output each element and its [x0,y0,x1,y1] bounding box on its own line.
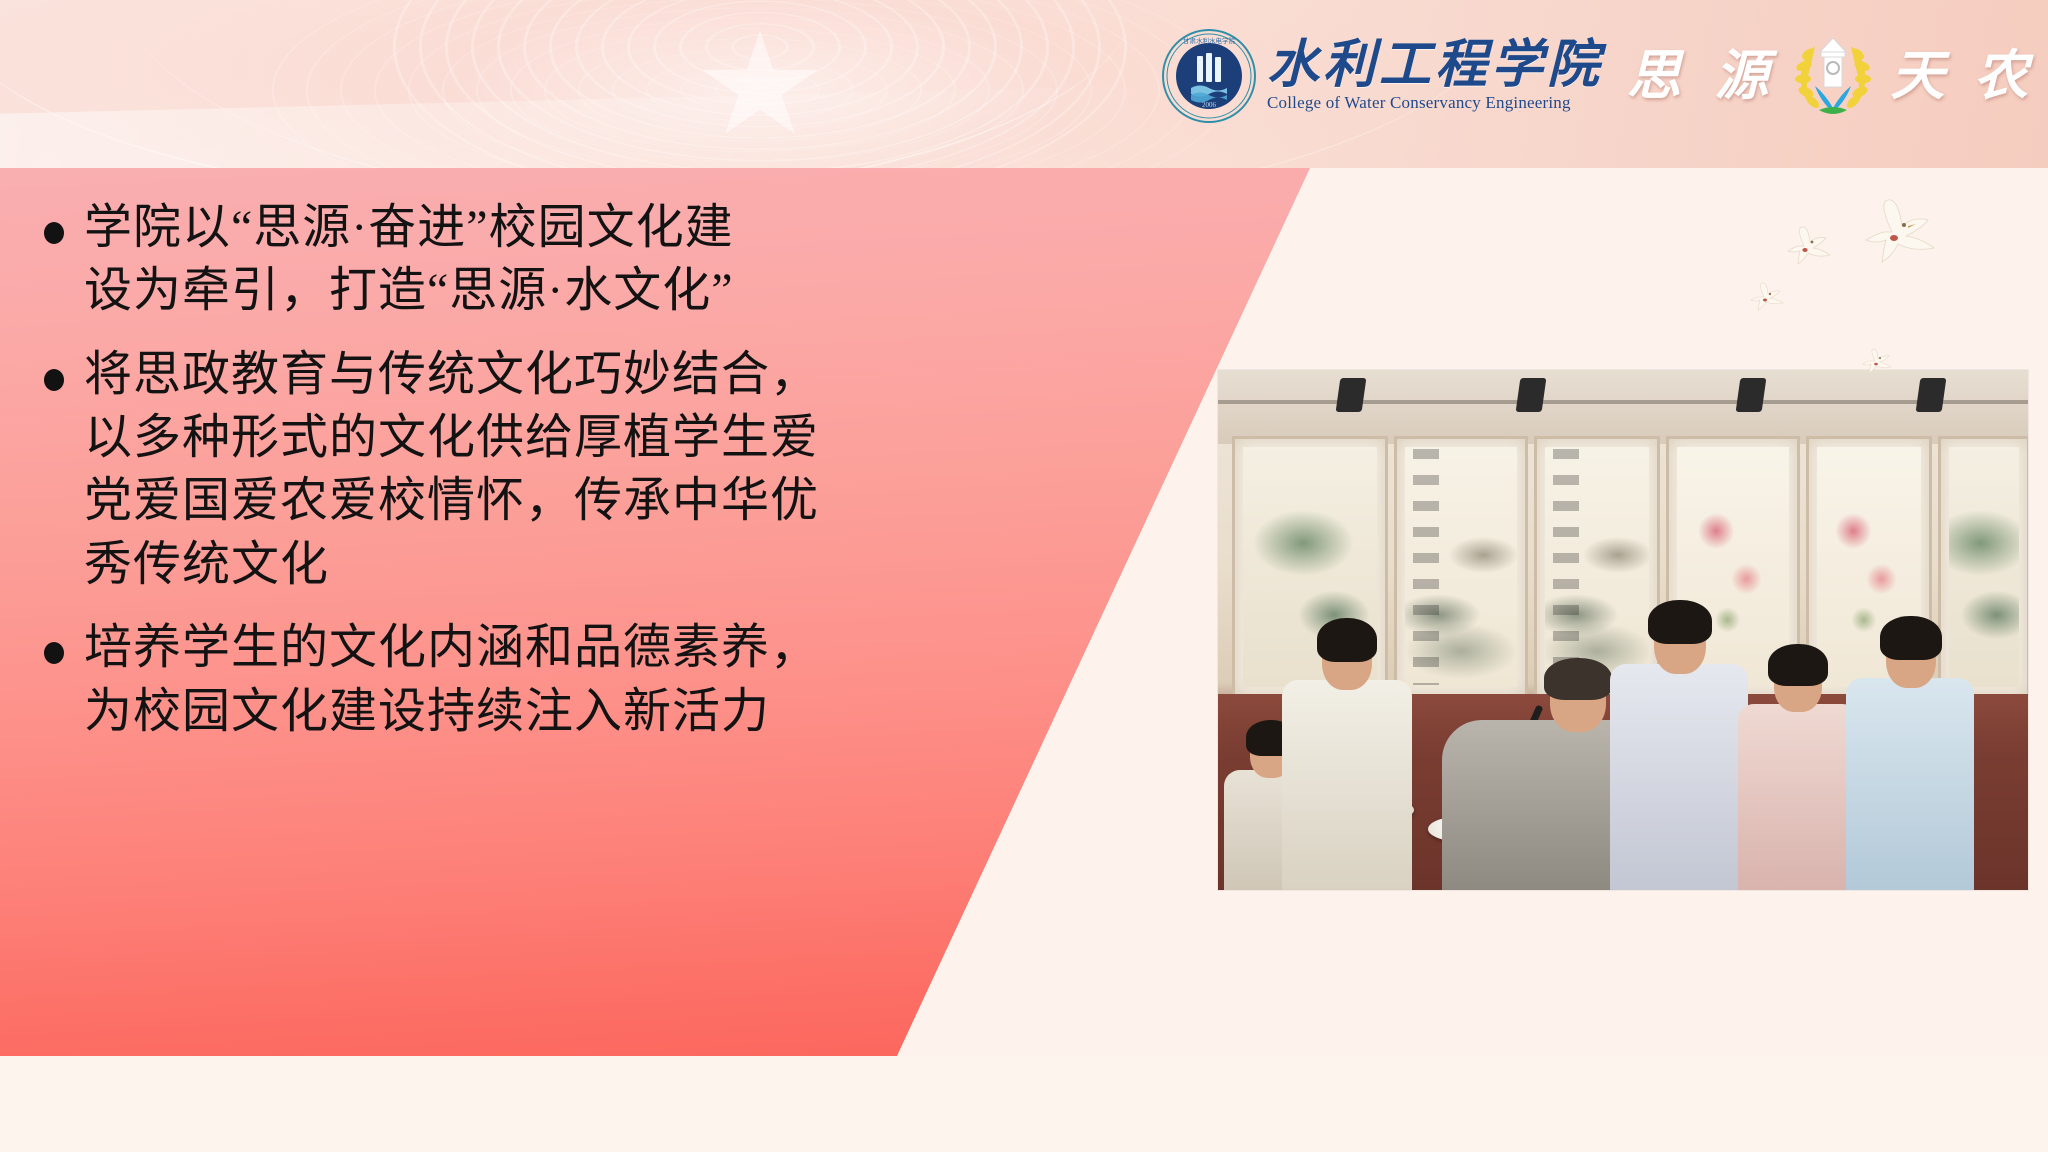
svg-text:2006: 2006 [1202,101,1217,109]
svg-text:甘肃水利水电学院: 甘肃水利水电学院 [1183,36,1236,45]
dove-2-icon [1778,226,1836,270]
header-banner: 2006 甘肃水利水电学院 水利工程学院 College of Water Co… [0,0,2048,168]
university-crest-icon: 2006 甘肃水利水电学院 [1161,28,1257,124]
student-figure [1846,590,1974,890]
bullet-text-3: 培养学生的文化内涵和品德素养， 为校园文化建设持续注入新活力 [84,616,819,743]
dove-3-icon [1744,282,1788,314]
bullet-text-1: 学院以“思源·奋进”校园文化建 设为牵引，打造“思源·水文化” [84,196,734,323]
ceiling-spotlight-icon [1736,378,1767,412]
calligraphy-class-photo [1218,370,2028,890]
laurel-wreath-emblem-icon [1785,28,1881,124]
student-figure [1282,590,1412,890]
bullet-marker-icon [44,642,64,664]
logo-lockup: 2006 甘肃水利水电学院 水利工程学院 College of Water Co… [1161,16,2036,136]
bullet-line: 为校园文化建设持续注入新活力 [84,680,819,743]
bullet-line: 培养学生的文化内涵和品德素养， [84,616,819,679]
slogan-lockup: 思 源 [1627,28,2036,124]
bullet-marker-icon [44,222,64,244]
bullet-text-2: 将思政教育与传统文化巧妙结合， 以多种形式的文化供给厚植学生爱 党爱国爱农爱校情… [84,343,819,596]
university-name-block: 水利工程学院 College of Water Conservancy Engi… [1267,40,1603,113]
bullet-list: 学院以“思源·奋进”校园文化建 设为牵引，打造“思源·水文化” 将思政教育与传统… [44,196,944,763]
dove-1-icon [1848,198,1944,268]
ceiling-spotlight-icon [1336,378,1367,412]
ceiling-spotlight-icon [1916,378,1947,412]
bullet-line: 以多种形式的文化供给厚植学生爱 [84,406,819,469]
university-name-en: College of Water Conservancy Engineering [1267,94,1603,113]
bullet-line: 秀传统文化 [84,533,819,596]
bullet-item-2: 将思政教育与传统文化巧妙结合， 以多种形式的文化供给厚植学生爱 党爱国爱农爱校情… [44,343,944,596]
slogan-text-tiannong: 天 农 [1891,49,2037,103]
bullet-line: 将思政教育与传统文化巧妙结合， [84,343,819,406]
bullet-line: 设为牵引，打造“思源·水文化” [84,259,734,322]
university-name-cn: 水利工程学院 [1267,40,1603,92]
student-figure [1610,572,1748,890]
bottom-strip [0,1056,2048,1152]
bullet-item-1: 学院以“思源·奋进”校园文化建 设为牵引，打造“思源·水文化” [44,196,944,323]
bullet-line: 学院以“思源·奋进”校园文化建 [84,196,734,259]
dove-4-icon [1858,348,1896,376]
slogan-text-siyuan: 思 源 [1627,49,1779,103]
bullet-line: 党爱国爱农爱校情怀，传承中华优 [84,469,819,532]
slide-root: 2006 甘肃水利水电学院 水利工程学院 College of Water Co… [0,0,2048,1152]
bullet-item-3: 培养学生的文化内涵和品德素养， 为校园文化建设持续注入新活力 [44,616,944,743]
bullet-marker-icon [44,369,64,391]
ceiling-spotlight-icon [1516,378,1547,412]
student-figure [1738,622,1858,890]
